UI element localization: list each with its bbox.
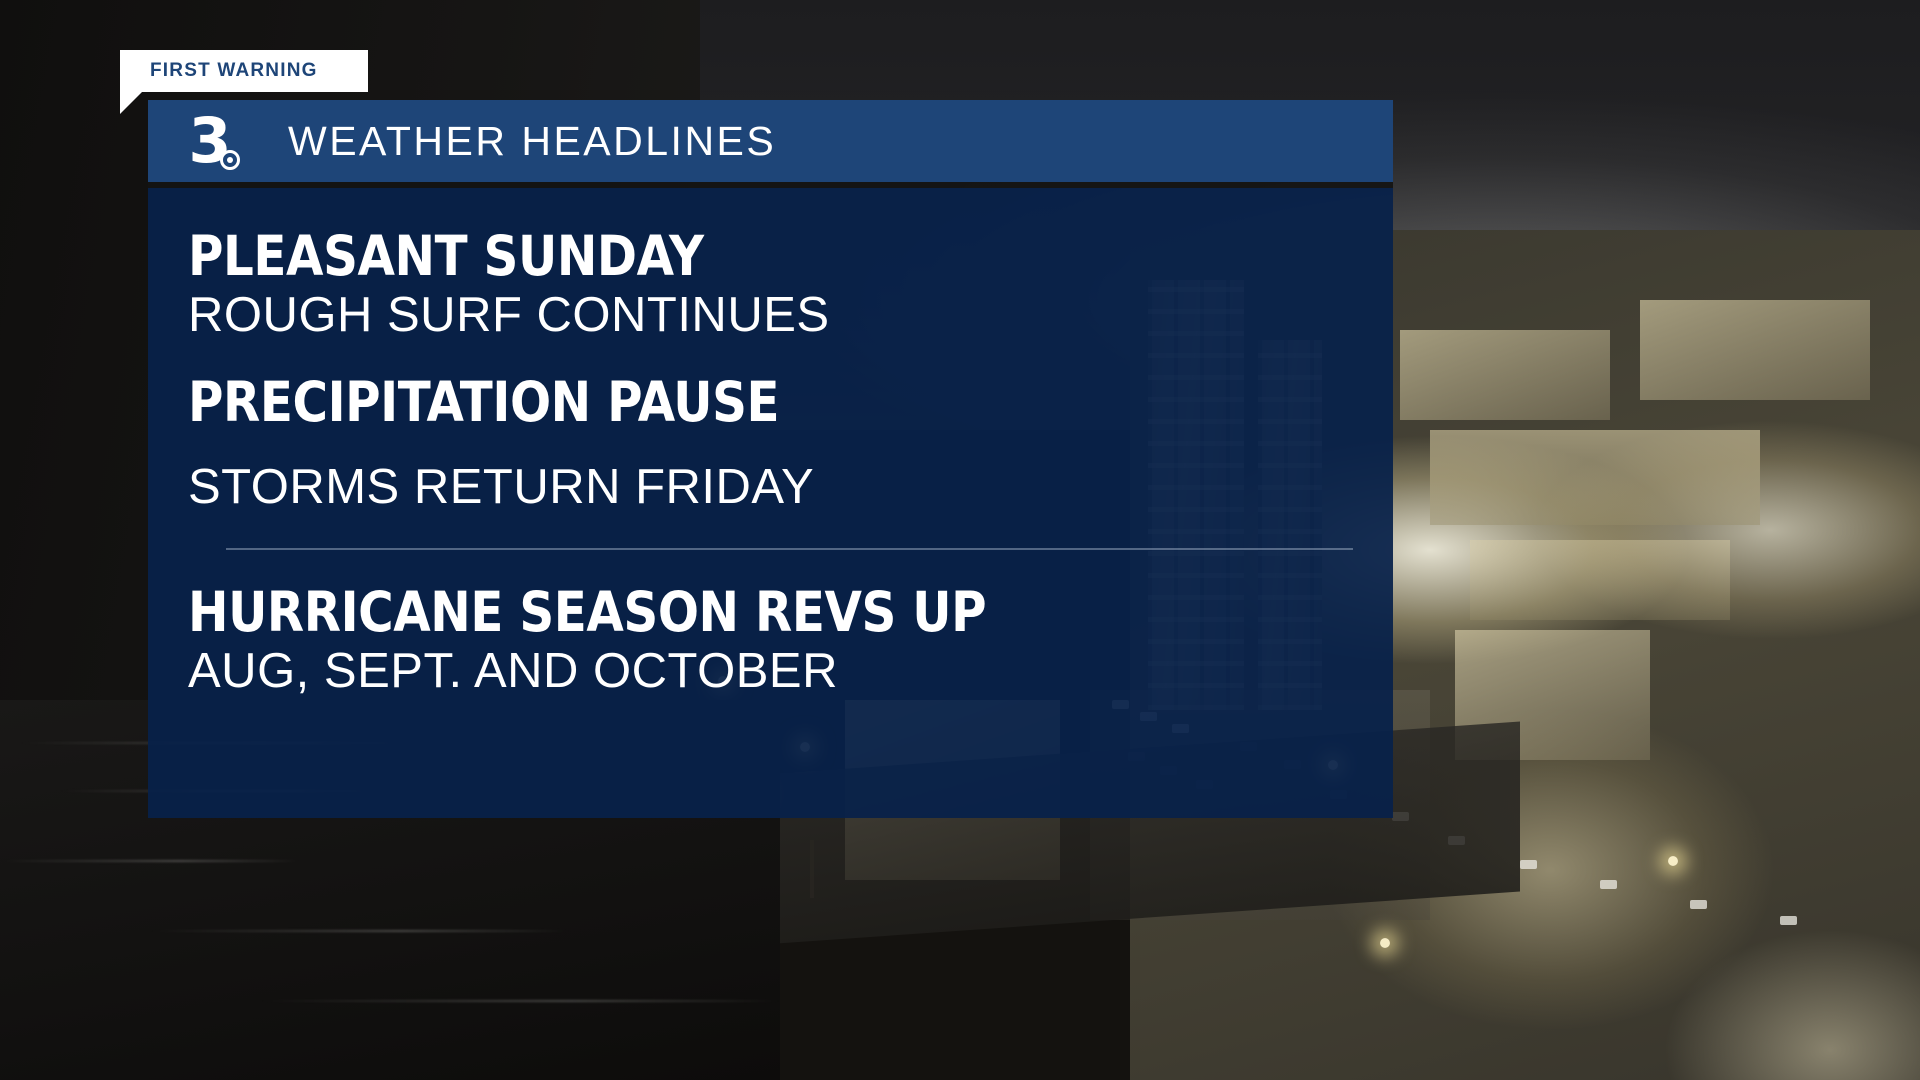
card-title: WEATHER HEADLINES: [288, 118, 776, 165]
parked-car: [1520, 860, 1537, 869]
parked-car: [1690, 900, 1707, 909]
headline-group-precipitation-pause: PRECIPITATION PAUSE STORMS RETURN FRIDAY: [188, 374, 1353, 514]
headline-subtext: ROUGH SURF CONTINUES: [188, 290, 1353, 342]
card-body: PLEASANT SUNDAY ROUGH SURF CONTINUES PRE…: [148, 188, 1393, 818]
headline-group-pleasant-sunday: PLEASANT SUNDAY ROUGH SURF CONTINUES: [188, 228, 1353, 342]
eye-logo-icon: [220, 150, 240, 170]
headline-primary: HURRICANE SEASON REVS UP: [188, 584, 1213, 640]
first-warning-label: FIRST WARNING: [150, 60, 318, 82]
mid-rise-building: [1640, 300, 1870, 400]
wave-highlight: [260, 1000, 780, 1002]
low-commercial-block: [1470, 540, 1730, 620]
low-commercial-block: [1430, 430, 1760, 525]
headline-subtext: AUG, SEPT. AND OCTOBER: [188, 646, 1353, 698]
headline-primary: PLEASANT SUNDAY: [188, 228, 1213, 284]
weather-headlines-card: 3 WEATHER HEADLINES PLEASANT SUNDAY ROUG…: [148, 100, 1393, 818]
street-light: [1380, 938, 1390, 948]
mid-rise-building: [1400, 330, 1610, 420]
first-warning-tab-notch: [120, 92, 142, 114]
first-warning-tab: FIRST WARNING: [120, 50, 368, 92]
wave-highlight: [150, 930, 570, 932]
palm-tree: [810, 840, 814, 898]
broadcast-graphic-stage: FIRST WARNING 3 WEATHER HEADLINES PLEASA…: [0, 0, 1920, 1080]
parked-car: [1780, 916, 1797, 925]
section-divider: [226, 548, 1353, 550]
channel-3-logo-icon: 3: [178, 110, 240, 172]
headline-primary: PRECIPITATION PAUSE: [188, 374, 1213, 430]
street-light: [1668, 856, 1678, 866]
card-header-bar: 3 WEATHER HEADLINES: [148, 100, 1393, 182]
headline-group-hurricane-season: HURRICANE SEASON REVS UP AUG, SEPT. AND …: [188, 584, 1353, 698]
wave-highlight: [0, 860, 300, 862]
parked-car: [1600, 880, 1617, 889]
headline-subtext: STORMS RETURN FRIDAY: [188, 462, 1353, 514]
